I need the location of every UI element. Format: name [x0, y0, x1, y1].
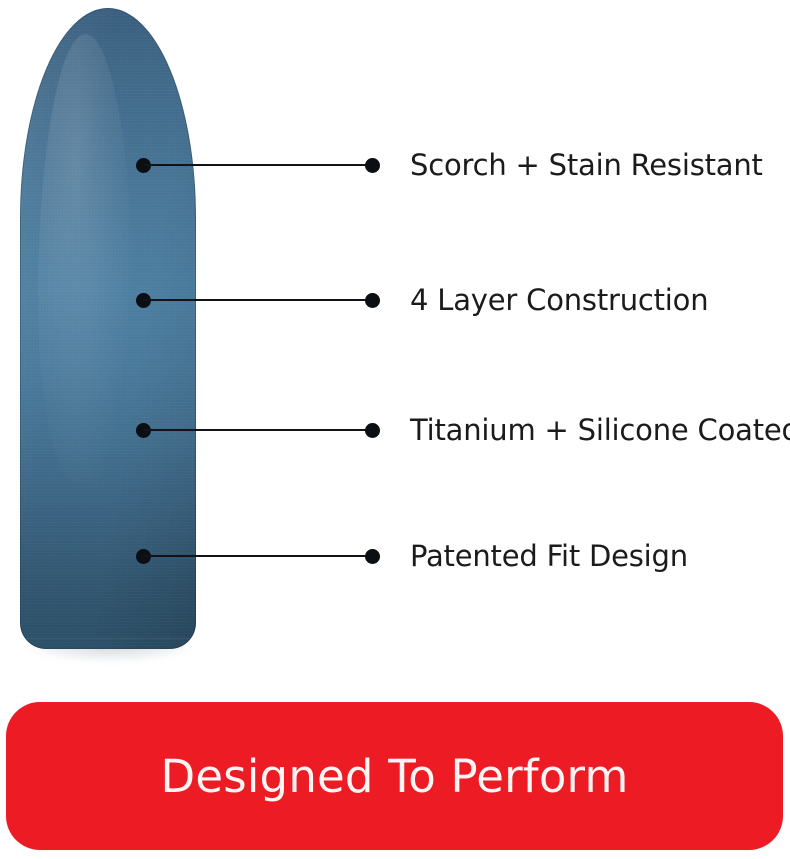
callout-leader-line [143, 299, 373, 301]
callout-label-patented-fit-design: Patented Fit Design [410, 542, 688, 571]
fabric-texture [20, 8, 196, 649]
fabric-sheen [38, 34, 133, 483]
callout-label-4-layer-construction: 4 Layer Construction [410, 286, 708, 315]
cta-banner: Designed To Perform [6, 702, 783, 850]
callout-end-dot-icon [365, 158, 380, 173]
product-image [0, 0, 230, 690]
callout-end-dot-icon [365, 293, 380, 308]
hem-seam [20, 638, 196, 639]
callout-label-scorch-stain-resistant: Scorch + Stain Resistant [410, 151, 763, 180]
callout-leader-line [143, 429, 373, 431]
product-feature-infographic: Scorch + Stain Resistant 4 Layer Constru… [0, 0, 790, 859]
callout-leader-line [143, 164, 373, 166]
callout-end-dot-icon [365, 423, 380, 438]
callout-end-dot-icon [365, 549, 380, 564]
ironing-board-cover [20, 8, 196, 649]
callout-label-titanium-silicone-coated: Titanium + Silicone Coated [410, 416, 790, 445]
cta-banner-text: Designed To Perform [160, 754, 628, 799]
callout-leader-line [143, 555, 373, 557]
